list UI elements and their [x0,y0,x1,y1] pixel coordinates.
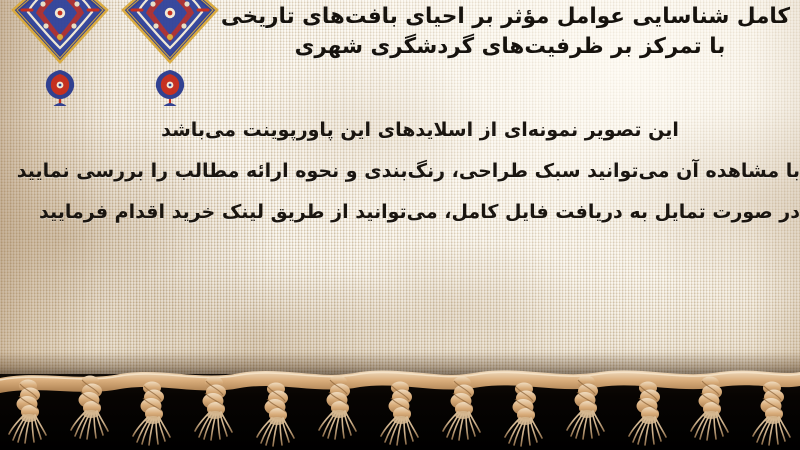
body-line-2: با مشاهده آن می‌توانید سبک طراحی، رنگ‌بن… [40,151,800,192]
body-line-1: این تصویر نمونه‌ای از اسلایدهای این پاور… [40,110,800,151]
title-line-1: کامل شناسایی عوامل مؤثر بر احیای بافت‌ها… [230,2,790,32]
carpet-fringe-tassels [0,360,800,450]
carpet-fringe [0,360,800,450]
body-line-3: در صورت تمایل به دریافت فایل کامل، می‌تو… [40,192,800,233]
presentation-slide: کامل شناسایی عوامل مؤثر بر احیای بافت‌ها… [0,0,800,450]
title-line-2: با تمرکز بر ظرفیت‌های گردشگری شهری [230,32,790,62]
slide-title: کامل شناسایی عوامل مؤثر بر احیای بافت‌ها… [230,2,790,62]
slide-body-text: این تصویر نمونه‌ای از اسلایدهای این پاور… [40,110,800,233]
